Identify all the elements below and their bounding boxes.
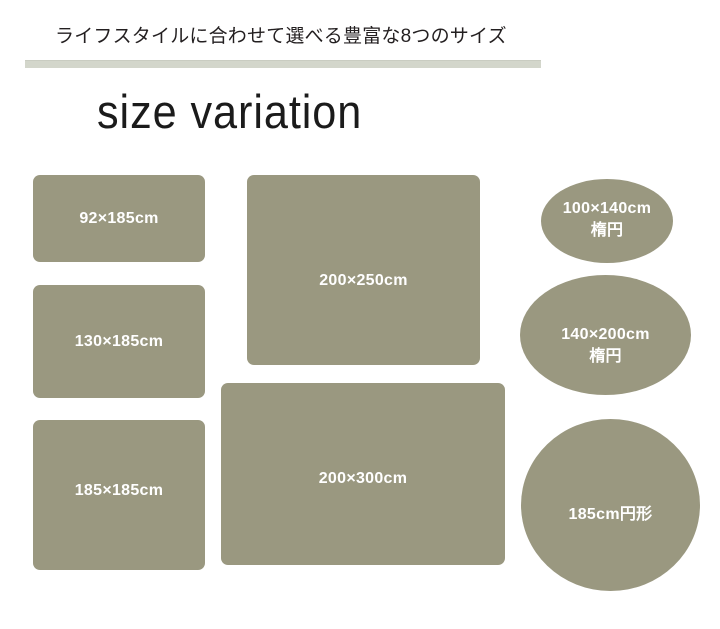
page-title: size variation xyxy=(97,84,362,140)
size-option-92x185[interactable]: 92×185cm xyxy=(33,175,205,262)
size-label: 200×250cm xyxy=(319,270,408,292)
size-option-185-circle[interactable]: 185cm円形 xyxy=(521,419,700,591)
size-label: 185×185cm xyxy=(75,480,164,502)
size-option-200x300[interactable]: 200×300cm xyxy=(221,383,505,565)
size-option-200x250[interactable]: 200×250cm xyxy=(247,175,480,365)
size-label: 185cm円形 xyxy=(569,504,653,526)
size-variation-page: ライフスタイルに合わせて選べる豊富な8つのサイズ size variation … xyxy=(0,0,720,629)
size-option-100x140-oval[interactable]: 100×140cm 楕円 xyxy=(541,179,673,263)
size-label: 92×185cm xyxy=(79,208,158,230)
size-label-stack: 140×200cm 楕円 xyxy=(561,324,650,368)
size-label-stack: 100×140cm 楕円 xyxy=(563,198,652,242)
size-label: 140×200cm xyxy=(561,324,650,346)
size-option-130x185[interactable]: 130×185cm xyxy=(33,285,205,398)
size-option-185x185[interactable]: 185×185cm xyxy=(33,420,205,570)
size-label: 130×185cm xyxy=(75,331,164,353)
size-label: 100×140cm xyxy=(563,198,652,220)
page-headline: ライフスタイルに合わせて選べる豊富な8つのサイズ xyxy=(55,24,507,50)
size-label: 200×300cm xyxy=(319,468,408,490)
size-shape-label: 楕円 xyxy=(563,220,652,242)
header-divider xyxy=(25,60,541,68)
size-option-140x200-oval[interactable]: 140×200cm 楕円 xyxy=(520,275,691,395)
size-shape-label: 楕円 xyxy=(561,346,650,368)
